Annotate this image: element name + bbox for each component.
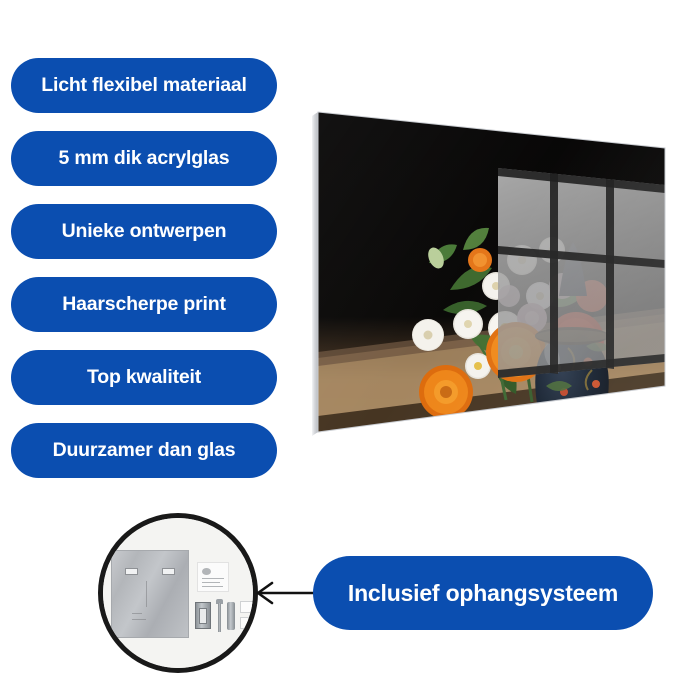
- feature-pill-haarscherpe-print[interactable]: Haarscherpe print: [11, 277, 277, 332]
- hanging-system-circle-inset: [98, 513, 258, 673]
- spacer-pad: [240, 617, 254, 629]
- panel-artwork: [300, 100, 690, 450]
- hanging-system-photo: [103, 518, 253, 668]
- acrylic-panel-illustration: [300, 100, 690, 450]
- mounting-plate-slot: [162, 568, 175, 575]
- callout-pill-inclusief-ophangsysteem[interactable]: Inclusief ophangsysteem: [313, 556, 653, 630]
- screw-shaft: [218, 603, 221, 632]
- product-infographic: Licht flexibel materiaal 5 mm dik acrylg…: [0, 0, 700, 700]
- feature-pill-label: Haarscherpe print: [62, 295, 226, 315]
- panel-left-edge: [312, 112, 318, 436]
- feature-pill-top-kwaliteit[interactable]: Top kwaliteit: [11, 350, 277, 405]
- feature-pill-label: Duurzamer dan glas: [53, 441, 236, 461]
- feature-pill-label: Top kwaliteit: [87, 368, 201, 388]
- feature-pill-list: Licht flexibel materiaal 5 mm dik acrylg…: [11, 58, 277, 496]
- screw: [216, 599, 223, 632]
- feature-pill-label: Licht flexibel materiaal: [41, 76, 246, 96]
- feature-pill-duurzamer-dan-glas[interactable]: Duurzamer dan glas: [11, 423, 277, 478]
- instruction-leaflet: [197, 562, 229, 592]
- product-preview-panel: [300, 100, 690, 450]
- mounting-plate-marking: [146, 581, 147, 607]
- feature-pill-label: 5 mm dik acrylglas: [59, 149, 230, 169]
- feature-pill-label: Unieke ontwerpen: [62, 222, 227, 242]
- mounting-plate-slot: [125, 568, 138, 575]
- mounting-plate-marking: [132, 613, 142, 614]
- mounting-plate: [111, 550, 189, 638]
- wall-bracket: [195, 602, 211, 629]
- feature-pill-unieke-ontwerpen[interactable]: Unieke ontwerpen: [11, 204, 277, 259]
- mounting-plate-marking: [132, 619, 146, 620]
- wall-plug: [227, 602, 235, 630]
- feature-pill-licht-flexibel-materiaal[interactable]: Licht flexibel materiaal: [11, 58, 277, 113]
- callout-pill-label: Inclusief ophangsysteem: [348, 582, 618, 605]
- feature-pill-5-mm-dik-acrylglas[interactable]: 5 mm dik acrylglas: [11, 131, 277, 186]
